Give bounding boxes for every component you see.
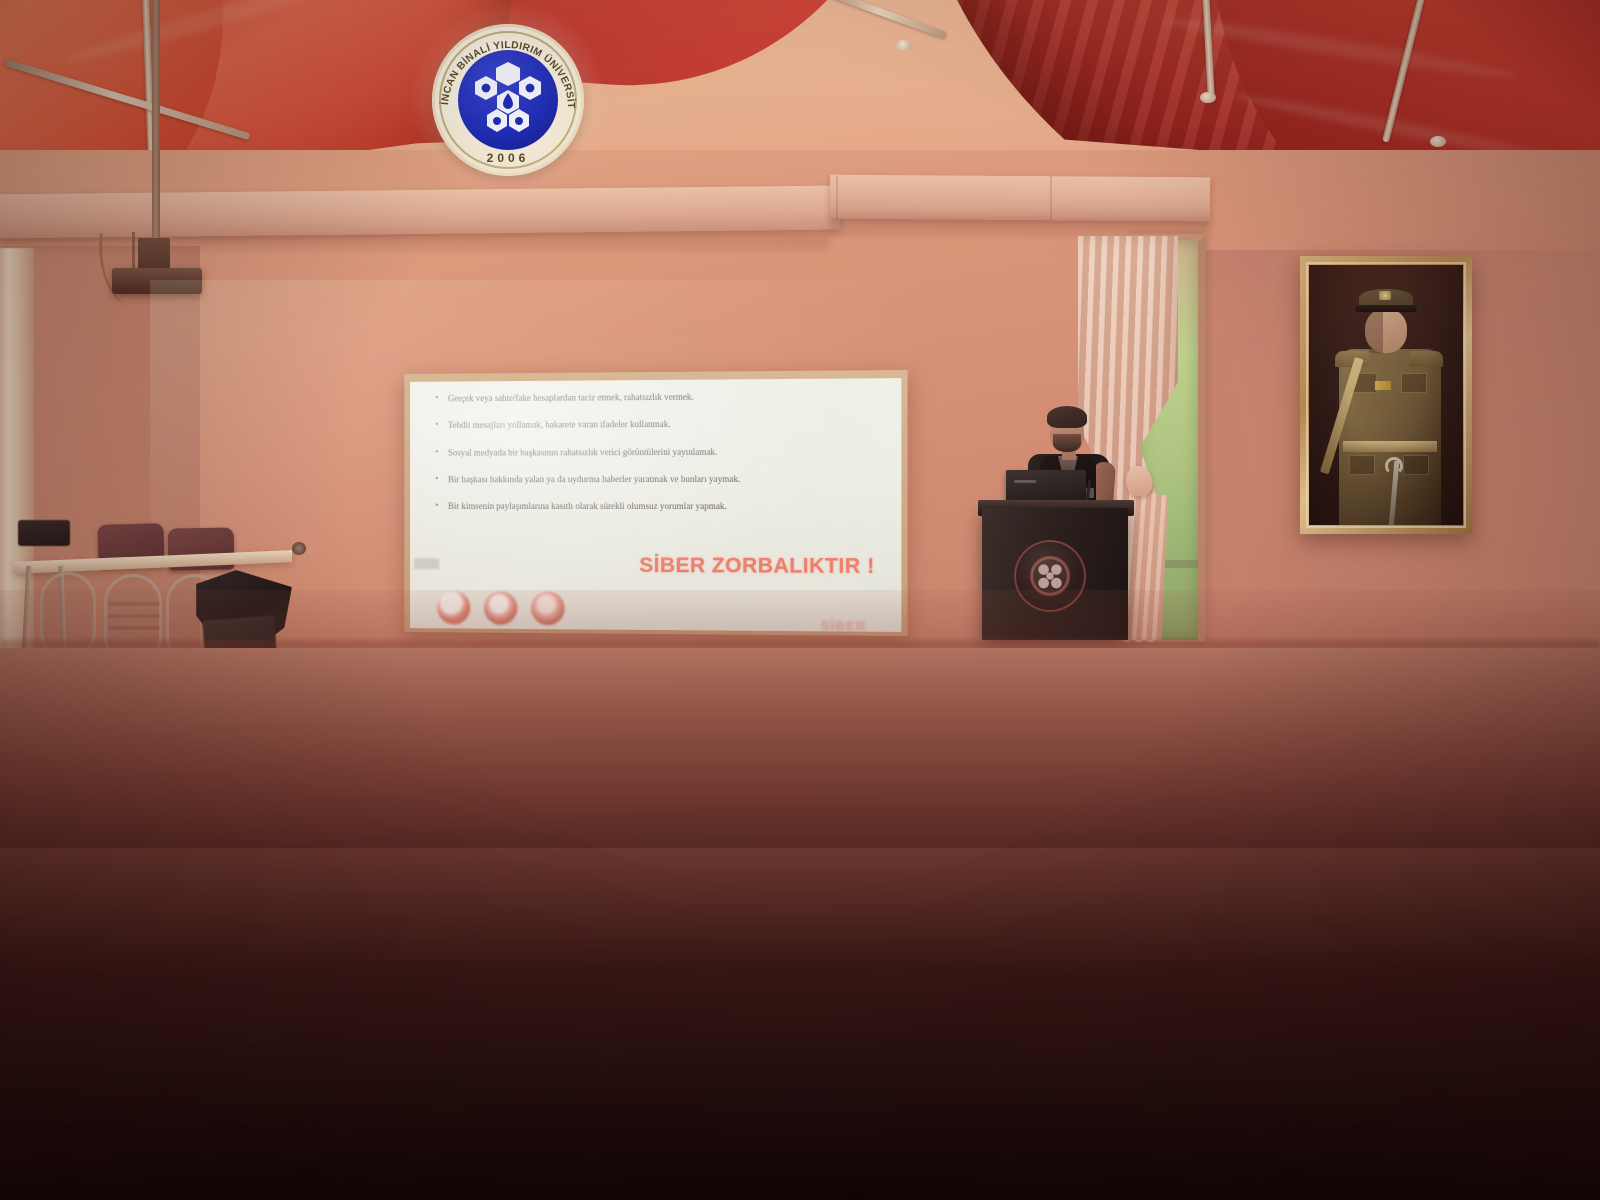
speaker-beard xyxy=(1053,434,1081,452)
seated-audience-icon xyxy=(0,590,1600,1200)
projector-lens-icon xyxy=(292,542,306,555)
rod-cap xyxy=(896,40,912,51)
ceiling-beam-left xyxy=(0,186,840,239)
laptop-logo xyxy=(1014,480,1036,483)
rod-cap xyxy=(1430,136,1446,147)
beam-seam xyxy=(1050,176,1052,220)
slide-bullet: Bir başkası hakkında yalan ya da uydurma… xyxy=(435,474,887,486)
portrait-canvas xyxy=(1309,265,1463,525)
ceiling-beam-right xyxy=(830,175,1210,222)
slide-headline: SİBER ZORBALIKTIR ! xyxy=(639,554,874,579)
projector-bracket xyxy=(138,238,170,272)
projector-mount-pipe xyxy=(152,0,160,252)
audience-haze xyxy=(0,590,1600,1200)
framed-portrait-military-officer-icon xyxy=(1300,256,1472,534)
speaker-hair xyxy=(1047,406,1087,428)
rod-cap xyxy=(1200,92,1216,103)
slide-bullet-list: Gerçek veya sahte/fake hesaplardan taciz… xyxy=(435,390,887,529)
equipment-box xyxy=(18,520,70,546)
slide-corner-tag xyxy=(414,558,439,569)
honeycomb-hexagon-emblem-icon xyxy=(468,61,548,139)
ceiling-projector-icon xyxy=(112,268,202,294)
crest-honeycomb-icon xyxy=(1034,560,1066,592)
slide-bullet: Tehdit mesajları yollamak, hakarete vara… xyxy=(435,418,887,432)
slide-bullet: Sosyal medyada bir başkasının rahatsızlı… xyxy=(435,446,887,459)
emblem-founding-year: 2006 xyxy=(432,151,584,165)
beam-seam xyxy=(836,176,838,220)
university-emblem: ERZİNCAN BİNALİ YILDIRIM ÜNİVERSİTESİ xyxy=(432,24,584,176)
slide-bullet: Bir kimsenin paylaşımlarına kasıtlı olar… xyxy=(435,501,887,513)
slide-bullet: Gerçek veya sahte/fake hesaplardan taciz… xyxy=(435,390,887,404)
portrait-vignette xyxy=(1309,265,1463,525)
conference-hall-photo: ERZİNCAN BİNALİ YILDIRIM ÜNİVERSİTESİ xyxy=(0,0,1600,1200)
